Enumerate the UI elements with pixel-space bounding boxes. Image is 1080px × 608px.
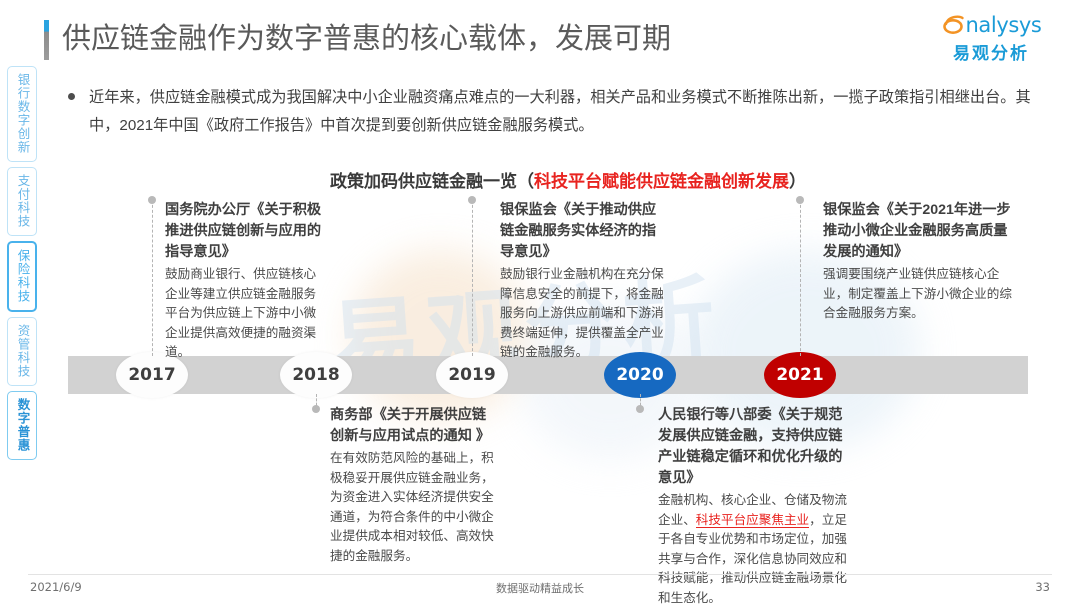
sidebar: 银行数字创新 支付科技 保险科技 资管科技 数字普惠	[7, 66, 39, 465]
connector-dot-2019	[468, 196, 476, 204]
timeline-card-2019-body: 鼓励银行业金融机构在充分保障信息安全的前提下，将金融服务向上游供应前端和下游消费…	[500, 265, 667, 363]
analysys-swoosh-icon	[941, 13, 965, 37]
footer: 2021/6/9 数据驱动精益成长 33	[0, 580, 1080, 600]
timeline-card-2017-title: 国务院办公厅《关于积极推进供应链创新与应用的指导意见》	[165, 200, 323, 263]
sidebar-item-payment-tech[interactable]: 支付科技	[7, 167, 37, 236]
chart-title-main: 政策加码供应链金融一览（	[330, 172, 534, 191]
brand-logo: nalysys 易观分析	[926, 12, 1056, 64]
footer-page-number: 33	[1035, 580, 1050, 594]
connector-dot-2018	[312, 405, 320, 413]
connector-dot-2017	[148, 196, 156, 204]
timeline-card-2021-title: 银保监会《关于2021年进一步推动小微企业金融服务高质量发展的通知》	[823, 200, 1013, 263]
page-title: 供应链金融作为数字普惠的核心载体，发展可期	[44, 18, 671, 60]
timeline-card-2019-title: 银保监会《关于推动供应链金融服务实体经济的指导意见》	[500, 200, 667, 263]
title-accent-bar	[44, 20, 49, 60]
timeline-card-2019: 银保监会《关于推动供应链金融服务实体经济的指导意见》 鼓励银行业金融机构在充分保…	[500, 200, 667, 363]
logo-wordmark: nalysys	[966, 13, 1042, 37]
footer-slogan: 数据驱动精益成长	[0, 580, 1080, 596]
connector-2019	[472, 200, 474, 356]
chart-title-tail: ）	[789, 172, 806, 191]
timeline-node-2019[interactable]: 2019	[436, 352, 508, 398]
timeline-card-2017: 国务院办公厅《关于积极推进供应链创新与应用的指导意见》 鼓励商业银行、供应链核心…	[165, 200, 323, 363]
page-title-text: 供应链金融作为数字普惠的核心载体，发展可期	[62, 18, 671, 58]
timeline-card-2018-title: 商务部《关于开展供应链创新与应用试点的通知 》	[330, 405, 495, 447]
intro-bullet-text: 近年来，供应链金融模式成为我国解决中小企业融资痛点难点的一大利器，相关产品和业务…	[89, 84, 1049, 140]
timeline-card-2020-body-highlight: 科技平台应聚焦主业	[696, 513, 809, 528]
timeline-card-2018: 商务部《关于开展供应链创新与应用试点的通知 》 在有效防范风险的基础上，积极稳妥…	[330, 405, 495, 566]
footer-divider	[28, 574, 1052, 575]
sidebar-item-asset-management-tech[interactable]: 资管科技	[7, 317, 37, 386]
bullet-dot-icon	[68, 93, 75, 100]
connector-dot-2021	[796, 196, 804, 204]
timeline-card-2021: 银保监会《关于2021年进一步推动小微企业金融服务高质量发展的通知》 强调要围绕…	[823, 200, 1013, 324]
logo-chinese-name: 易观分析	[926, 39, 1056, 64]
connector-2021	[800, 200, 802, 356]
timeline-card-2020: 人民银行等八部委《关于规范发展供应链金融，支持供应链产业链稳定循环和优化升级的意…	[658, 405, 850, 608]
connector-dot-2020	[636, 405, 644, 413]
sidebar-item-insurance-tech[interactable]: 保险科技	[7, 241, 37, 312]
timeline-card-2017-body: 鼓励商业银行、供应链核心企业等建立供应链金融服务平台为供应链上下游中小微企业提供…	[165, 265, 323, 363]
connector-2017	[152, 200, 154, 356]
timeline-node-2021[interactable]: 2021	[764, 352, 836, 398]
intro-bullet: 近年来，供应链金融模式成为我国解决中小企业融资痛点难点的一大利器，相关产品和业务…	[68, 84, 1058, 140]
sidebar-item-bank-digital-innovation[interactable]: 银行数字创新	[7, 66, 37, 162]
sidebar-item-digital-inclusive-finance[interactable]: 数字普惠	[7, 391, 37, 460]
chart-title-highlight: 科技平台赋能供应链金融创新发展	[534, 172, 789, 191]
timeline-card-2020-title: 人民银行等八部委《关于规范发展供应链金融，支持供应链产业链稳定循环和优化升级的意…	[658, 405, 850, 489]
timeline-card-2018-body: 在有效防范风险的基础上，积极稳妥开展供应链金融业务，为资金进入实体经济提供安全通…	[330, 449, 495, 566]
timeline-card-2021-body: 强调要围绕产业链供应链核心企业，制定覆盖上下游小微企业的综合金融服务方案。	[823, 265, 1013, 324]
chart-title: 政策加码供应链金融一览（科技平台赋能供应链金融创新发展）	[330, 167, 806, 192]
